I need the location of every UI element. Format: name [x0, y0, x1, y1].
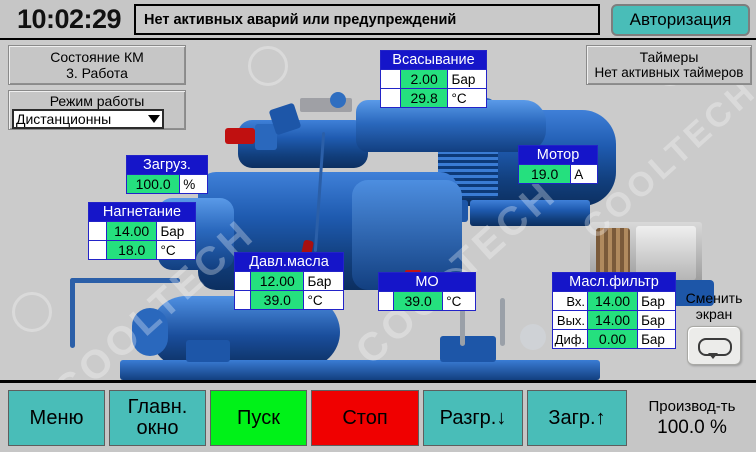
- panel-oil-pressure-title: Давл.масла: [235, 253, 343, 271]
- bottom-toolbar-divider: [0, 380, 756, 383]
- panel-suction-row-2: 29.8 °C: [381, 88, 486, 107]
- main-window-button[interactable]: Главн. окно: [109, 390, 206, 446]
- panel-oil-filter-unit-1: Бар: [638, 292, 675, 310]
- capacity-label: Производ-ть: [649, 398, 736, 415]
- panel-oil-filter-row-2: Вых. 14.00 Бар: [553, 310, 675, 329]
- panel-mo-unit: °C: [443, 292, 475, 310]
- panel-motor[interactable]: Мотор 19.0 A: [518, 145, 598, 184]
- panel-suction-cap-1: [381, 70, 400, 88]
- panel-motor-unit: A: [571, 165, 597, 183]
- panel-discharge-value-1: 14.00: [106, 222, 158, 240]
- timers-box: Таймеры Нет активных таймеров: [586, 45, 752, 85]
- panel-mo-value: 39.0: [393, 292, 443, 310]
- compressor-state-title: Состояние КМ: [9, 49, 185, 65]
- compressor-state-box: Состояние КМ 3. Работа: [8, 45, 186, 85]
- operation-mode-dropdown[interactable]: Дистанционны: [12, 109, 164, 129]
- panel-oil-filter-cap-2: Вых.: [553, 311, 587, 329]
- stop-button[interactable]: Стоп: [311, 390, 419, 446]
- panel-discharge-unit-2: °C: [157, 241, 195, 259]
- panel-suction-value-2: 29.8: [400, 89, 449, 107]
- panel-discharge-cap-2: [89, 241, 106, 259]
- change-screen-label-line2: экран: [676, 306, 752, 322]
- panel-discharge-value-2: 18.0: [106, 241, 158, 259]
- panel-suction-title: Всасывание: [381, 51, 486, 69]
- alarm-banner-text: Нет активных аварий или предупреждений: [144, 12, 456, 28]
- chevron-down-icon: [148, 115, 160, 123]
- operation-mode-value: Дистанционны: [16, 111, 111, 127]
- panel-suction-value-1: 2.00: [400, 70, 449, 88]
- panel-oil-filter-cap-1: Вх.: [553, 292, 587, 310]
- panel-suction-unit-2: °C: [448, 89, 486, 107]
- panel-suction[interactable]: Всасывание 2.00 Бар 29.8 °C: [380, 50, 487, 108]
- panel-oil-pressure[interactable]: Давл.масла 12.00 Бар 39.0 °C: [234, 252, 344, 310]
- panel-load-percent[interactable]: Загруз. 100.0 %: [126, 155, 208, 194]
- panel-oil-filter-title: Масл.фильтр: [553, 273, 675, 291]
- panel-discharge-title: Нагнетание: [89, 203, 195, 221]
- capacity-value: 100.0 %: [657, 417, 727, 439]
- hmi-screen: 10:02:29 Нет активных аварий или предупр…: [0, 0, 756, 452]
- panel-oil-pressure-cap-2: [235, 291, 250, 309]
- menu-button[interactable]: Меню: [8, 390, 105, 446]
- panel-load-percent-unit: %: [180, 175, 207, 193]
- panel-motor-title: Мотор: [519, 146, 597, 164]
- panel-oil-filter-row-1: Вх. 14.00 Бар: [553, 291, 675, 310]
- panel-oil-pressure-row-1: 12.00 Бар: [235, 271, 343, 290]
- panel-suction-row-1: 2.00 Бар: [381, 69, 486, 88]
- loop-arrow-icon: [698, 338, 732, 356]
- panel-discharge-unit-1: Бар: [157, 222, 195, 240]
- panel-suction-unit-1: Бар: [448, 70, 486, 88]
- panel-oil-filter-row-3: Диф. 0.00 Бар: [553, 329, 675, 348]
- panel-oil-pressure-row-2: 39.0 °C: [235, 290, 343, 309]
- change-screen-label-line1: Сменить: [676, 290, 752, 306]
- panel-oil-pressure-value-2: 39.0: [250, 291, 304, 309]
- panel-oil-filter-unit-2: Бар: [638, 311, 675, 329]
- panel-load-percent-row-1: 100.0 %: [127, 174, 207, 193]
- unload-button[interactable]: Разгр.↓: [423, 390, 523, 446]
- start-button[interactable]: Пуск: [210, 390, 307, 446]
- panel-oil-filter-unit-3: Бар: [638, 330, 675, 348]
- panel-mo-row-1: 39.0 °C: [379, 291, 475, 310]
- panel-load-percent-value: 100.0: [127, 175, 180, 193]
- panel-discharge[interactable]: Нагнетание 14.00 Бар 18.0 °C: [88, 202, 196, 260]
- main-window-button-line2: окно: [136, 418, 178, 439]
- change-screen-button[interactable]: [687, 326, 741, 365]
- panel-discharge-cap-1: [89, 222, 106, 240]
- panel-mo-cap: [379, 292, 393, 310]
- operation-mode-title: Режим работы: [9, 93, 185, 109]
- panel-discharge-row-1: 14.00 Бар: [89, 221, 195, 240]
- panel-load-percent-title: Загруз.: [127, 156, 207, 174]
- main-mimic-area: COOLTECH COOLTECH COOLTECH Состояние КМ …: [0, 40, 756, 380]
- panel-oil-filter-value-1: 14.00: [587, 292, 638, 310]
- clock-display: 10:02:29: [8, 2, 130, 36]
- panel-oil-pressure-value-1: 12.00: [250, 272, 304, 290]
- change-screen-control[interactable]: Сменить экран: [676, 290, 752, 380]
- top-bar: 10:02:29 Нет активных аварий или предупр…: [0, 0, 756, 40]
- authorization-button[interactable]: Авторизация: [611, 4, 750, 36]
- panel-oil-pressure-cap-1: [235, 272, 250, 290]
- panel-oil-filter[interactable]: Масл.фильтр Вх. 14.00 Бар Вых. 14.00 Бар…: [552, 272, 676, 349]
- load-button[interactable]: Загр.↑: [527, 390, 627, 446]
- panel-oil-filter-cap-3: Диф.: [553, 330, 587, 348]
- panel-discharge-row-2: 18.0 °C: [89, 240, 195, 259]
- compressor-state-value: 3. Работа: [9, 65, 185, 81]
- panel-motor-row-1: 19.0 A: [519, 164, 597, 183]
- timers-title: Таймеры: [587, 49, 751, 65]
- alarm-banner[interactable]: Нет активных аварий или предупреждений: [134, 4, 600, 35]
- bottom-toolbar: Меню Главн. окно Пуск Стоп Разгр.↓ Загр.…: [0, 380, 756, 452]
- panel-oil-filter-value-3: 0.00: [587, 330, 638, 348]
- panel-motor-value: 19.0: [519, 165, 571, 183]
- panel-oil-filter-value-2: 14.00: [587, 311, 638, 329]
- capacity-readout: Производ-ть 100.0 %: [634, 390, 750, 446]
- timers-value: Нет активных таймеров: [587, 65, 751, 81]
- panel-mo-title: МО: [379, 273, 475, 291]
- panel-oil-pressure-unit-2: °C: [304, 291, 343, 309]
- panel-suction-cap-2: [381, 89, 400, 107]
- panel-oil-pressure-unit-1: Бар: [304, 272, 343, 290]
- panel-mo[interactable]: МО 39.0 °C: [378, 272, 476, 311]
- main-window-button-line1: Главн.: [128, 397, 188, 418]
